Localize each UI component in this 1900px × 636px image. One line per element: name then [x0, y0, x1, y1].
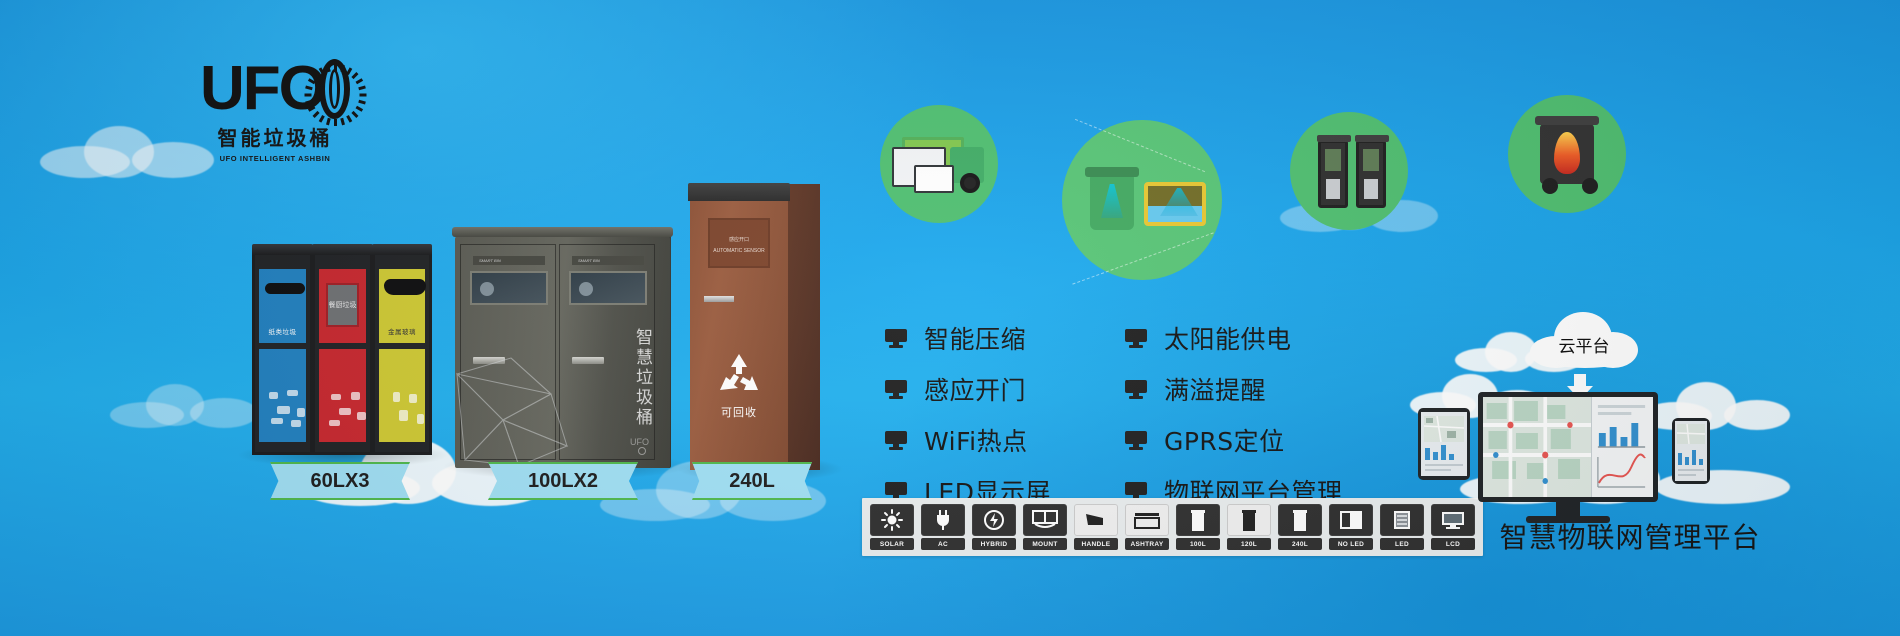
sensor-panel-en: AUTOMATIC SENSOR — [710, 248, 768, 254]
spec-badge-solar[interactable]: SOLAR — [870, 504, 914, 550]
spec-badge-ashtray[interactable]: ASHTRAY — [1125, 504, 1169, 550]
marketing-banner: UFO 智能垃圾桶 UFO INTELLIGENT ASHBIN 纸类垃圾 — [0, 0, 1900, 636]
monitor-bullet-icon — [1125, 329, 1147, 347]
feature-label: 感应开门 — [924, 371, 1026, 407]
platform-title: 智慧物联网管理平台 — [1480, 516, 1780, 556]
feature-label: 太阳能供电 — [1164, 320, 1292, 356]
monitor-bullet-icon — [1125, 431, 1147, 449]
cloud-shape-icon: 云平台 — [1530, 310, 1638, 372]
phone-device — [1672, 418, 1710, 484]
brand-chinese-name: 智能垃圾桶 — [200, 122, 350, 151]
compaction-liquid-separation-icon — [1090, 168, 1212, 236]
compartment-label: 金属玻璃 — [379, 326, 425, 336]
capacity-banner-60lx3: 60LX3 — [270, 462, 410, 500]
spec-badge-label: 120L — [1227, 538, 1271, 550]
feature-item: 太阳能供电 — [1125, 320, 1343, 356]
svg-text:UFO: UFO — [630, 437, 649, 447]
bin-logo-mark: UFO — [630, 434, 654, 456]
bin-120l-icon — [1227, 504, 1271, 536]
capacity-label: 100LX2 — [528, 470, 598, 493]
map-dashboard-pane — [1483, 397, 1591, 497]
bin-compartment-metal-glass: 金属玻璃 — [372, 252, 432, 455]
fire-detection-icon — [1540, 120, 1600, 190]
cloud-decoration — [110, 380, 260, 430]
ashtray-icon — [1125, 504, 1169, 536]
bin-vertical-text: 智慧垃圾桶 — [634, 328, 656, 428]
recycle-label: 可回收 — [690, 404, 788, 420]
spec-badge-label: 240L — [1278, 538, 1322, 550]
spec-badge-mount[interactable]: MOUNT — [1023, 504, 1067, 550]
spec-badge-led[interactable]: LED — [1380, 504, 1424, 550]
spec-badge-label: SOLAR — [870, 538, 914, 550]
feature-label: WiFi热点 — [924, 422, 1028, 458]
cloud-decoration — [40, 120, 220, 180]
feature-column-1: 智能压缩 感应开门 WiFi热点 LED显示屏 — [885, 320, 1051, 509]
capacity-label: 240L — [729, 470, 775, 493]
spec-badge-label: ASHTRAY — [1125, 538, 1169, 550]
collection-truck-dashboard-icon — [898, 135, 984, 193]
feature-item: 智能压缩 — [885, 320, 1051, 356]
handle-icon — [1074, 504, 1118, 536]
spec-badge-label: AC — [921, 538, 965, 550]
spec-badge-label: HYBRID — [972, 538, 1016, 550]
bin-240l-icon — [1278, 504, 1322, 536]
dual-bin-monitor-icon — [1318, 140, 1388, 210]
brand-wordmark: UFO — [200, 60, 325, 118]
spec-badge-strip: SOLAR AC HYBRID MOUNT HANDLE — [862, 498, 1483, 556]
spec-badge-handle[interactable]: HANDLE — [1074, 504, 1118, 550]
polygon-graphic — [455, 356, 595, 468]
brand-logo: UFO 智能垃圾桶 UFO INTELLIGENT ASHBIN — [200, 58, 350, 163]
capacity-banner-240l: 240L — [692, 462, 812, 500]
wall-mount-icon — [1023, 504, 1067, 536]
capacity-label: 60LX3 — [311, 470, 370, 493]
spec-badge-label: 100L — [1176, 538, 1220, 550]
ac-plug-icon — [921, 504, 965, 536]
feature-item: WiFi热点 — [885, 422, 1051, 458]
spec-badge-240l[interactable]: 240L — [1278, 504, 1322, 550]
monitor-bullet-icon — [1125, 380, 1147, 398]
spec-badge-120l[interactable]: 120L — [1227, 504, 1271, 550]
cloud-platform-label: 云平台 — [1530, 332, 1638, 357]
desktop-monitor — [1478, 392, 1658, 523]
bin-compartment-kitchen: 餐厨垃圾 — [312, 252, 372, 455]
spec-badge-ac[interactable]: AC — [921, 504, 965, 550]
product-three-compartment-bin: 纸类垃圾 餐厨垃圾 — [252, 252, 432, 455]
feature-label: 满溢提醒 — [1164, 371, 1266, 407]
compartment-label: 餐厨垃圾 — [328, 285, 357, 325]
monitor-bullet-icon — [885, 431, 907, 449]
feature-label: 智能压缩 — [924, 320, 1026, 356]
product-twin-smart-bin: SMART BIN SMART BIN 智慧垃圾桶 UFO — [455, 236, 670, 468]
cloud-platform-badge: 云平台 — [1530, 310, 1638, 372]
bin-compartment-paper: 纸类垃圾 — [252, 252, 312, 455]
brand-english-name: UFO INTELLIGENT ASHBIN — [200, 154, 350, 163]
sensor-panel: 感应开口 AUTOMATIC SENSOR — [708, 218, 770, 268]
spec-badge-lcd[interactable]: LCD — [1431, 504, 1475, 550]
no-led-icon — [1329, 504, 1373, 536]
feature-list: 智能压缩 感应开门 WiFi热点 LED显示屏 太阳能供电 满溢提醒 — [885, 320, 1343, 509]
product-single-recycle-bin: 感应开口 AUTOMATIC SENSOR 可回收 — [690, 200, 820, 470]
spec-badge-label: NO LED — [1329, 538, 1373, 550]
spec-badge-label: MOUNT — [1023, 538, 1067, 550]
compartment-label: 纸类垃圾 — [259, 326, 306, 336]
hybrid-power-icon — [972, 504, 1016, 536]
spec-badge-label: LCD — [1431, 538, 1475, 550]
lcd-icon — [1431, 504, 1475, 536]
sensor-panel-cn: 感应开口 — [710, 236, 768, 243]
chart-dashboard-pane — [1591, 397, 1653, 497]
tablet-device — [1418, 408, 1470, 480]
feature-label: GPRS定位 — [1164, 422, 1285, 458]
spec-badge-label: HANDLE — [1074, 538, 1118, 550]
recycle-symbol-icon — [714, 350, 764, 400]
capacity-banner-100lx2: 100LX2 — [488, 462, 638, 500]
solar-panel-icon — [870, 504, 914, 536]
bin-100l-icon — [1176, 504, 1220, 536]
ring-logo-icon — [319, 59, 350, 119]
feature-item: 满溢提醒 — [1125, 371, 1343, 407]
feature-item: 感应开门 — [885, 371, 1051, 407]
cloud-decoration — [1640, 380, 1790, 430]
spec-badge-hybrid[interactable]: HYBRID — [972, 504, 1016, 550]
led-icon — [1380, 504, 1424, 536]
feature-column-2: 太阳能供电 满溢提醒 GPRS定位 物联网平台管理 — [1125, 320, 1343, 509]
spec-badge-no-led[interactable]: NO LED — [1329, 504, 1373, 550]
spec-badge-100l[interactable]: 100L — [1176, 504, 1220, 550]
monitor-bullet-icon — [885, 329, 907, 347]
monitor-bullet-icon — [885, 380, 907, 398]
spec-badge-label: LED — [1380, 538, 1424, 550]
feature-item: GPRS定位 — [1125, 422, 1343, 458]
